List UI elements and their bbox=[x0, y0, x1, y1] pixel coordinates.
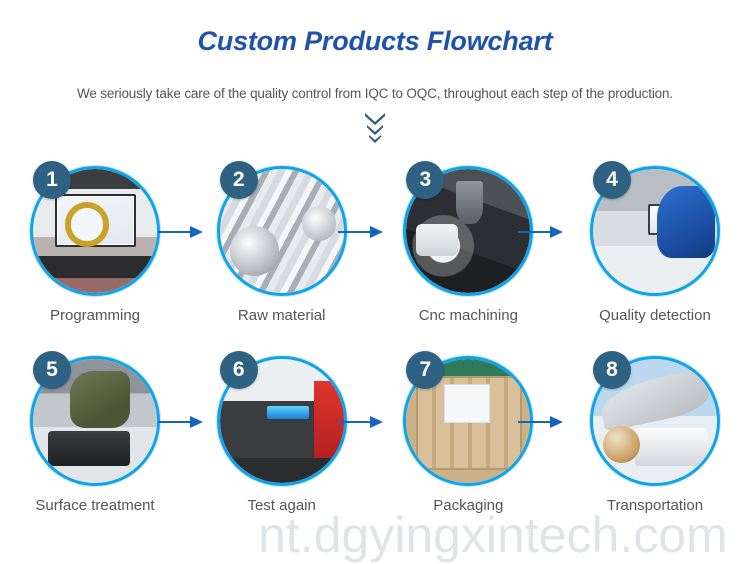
step-card[interactable]: 4 Quality detection bbox=[580, 163, 730, 353]
step-label: Packaging bbox=[433, 497, 503, 514]
steps-row-1: 1 Programming 2 Raw material bbox=[0, 163, 750, 353]
step-circle[interactable]: 3 bbox=[400, 163, 536, 299]
arrow-right-icon bbox=[518, 225, 564, 239]
step-number-badge: 5 bbox=[33, 351, 71, 389]
step-label: Raw material bbox=[238, 307, 326, 324]
step-number-badge: 4 bbox=[593, 161, 631, 199]
step-circle[interactable]: 5 bbox=[27, 353, 163, 489]
step-circle[interactable]: 1 bbox=[27, 163, 163, 299]
arrow-right-icon bbox=[158, 415, 204, 429]
steps-grid: 1 Programming 2 Raw material bbox=[0, 163, 750, 543]
step-label: Transportation bbox=[607, 497, 703, 514]
step-card[interactable]: 6 Test again bbox=[207, 353, 357, 543]
step-circle[interactable]: 2 bbox=[214, 163, 350, 299]
step-card[interactable]: 8 Transportation bbox=[580, 353, 730, 543]
arrow-right-icon bbox=[338, 225, 384, 239]
chevron-down-icon bbox=[368, 134, 382, 143]
flowchart-page: Custom Products Flowchart We seriously t… bbox=[0, 0, 750, 560]
arrow-right-icon bbox=[338, 415, 384, 429]
step-card[interactable]: 7 Packaging bbox=[393, 353, 543, 543]
page-subtitle: We seriously take care of the quality co… bbox=[0, 86, 750, 101]
step-card[interactable]: 1 Programming bbox=[20, 163, 170, 353]
chevron-down-stack bbox=[0, 112, 750, 143]
arrow-right-icon bbox=[518, 415, 564, 429]
step-label: Programming bbox=[50, 307, 140, 324]
step-number-badge: 1 bbox=[33, 161, 71, 199]
step-circle[interactable]: 6 bbox=[214, 353, 350, 489]
arrow-right-icon bbox=[158, 225, 204, 239]
step-circle[interactable]: 7 bbox=[400, 353, 536, 489]
step-number-badge: 6 bbox=[220, 351, 258, 389]
step-card[interactable]: 3 Cnc machining bbox=[393, 163, 543, 353]
steps-row-2: 5 Surface treatment 6 Test again bbox=[0, 353, 750, 543]
step-label: Surface treatment bbox=[35, 497, 154, 514]
step-card[interactable]: 2 Raw material bbox=[207, 163, 357, 353]
step-number-badge: 2 bbox=[220, 161, 258, 199]
page-title: Custom Products Flowchart bbox=[0, 26, 750, 57]
step-circle[interactable]: 8 bbox=[587, 353, 723, 489]
step-circle[interactable]: 4 bbox=[587, 163, 723, 299]
step-number-badge: 8 bbox=[593, 351, 631, 389]
step-label: Cnc machining bbox=[419, 307, 518, 324]
step-card[interactable]: 5 Surface treatment bbox=[20, 353, 170, 543]
step-label: Quality detection bbox=[599, 307, 711, 324]
step-label: Test again bbox=[247, 497, 315, 514]
